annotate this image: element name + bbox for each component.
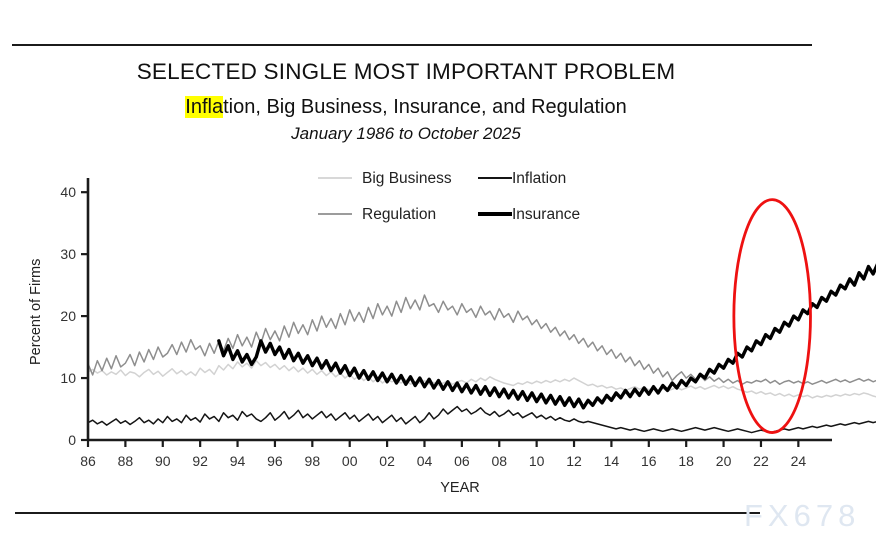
y-axis-tick-label: 30 (60, 246, 76, 262)
y-axis-label: Percent of Firms (28, 259, 44, 365)
plot-area: Big BusinessInflationRegulationInsurance… (0, 0, 876, 556)
x-axis-tick-label: 94 (230, 453, 246, 469)
x-axis-tick-label: 02 (379, 453, 395, 469)
chart-screenshot: SELECTED SINGLE MOST IMPORTANT PROBLEM I… (0, 0, 876, 556)
x-axis-tick-label: 04 (417, 453, 433, 469)
legend-label-regulation: Regulation (362, 206, 436, 223)
line-chart-svg: Big BusinessInflationRegulationInsurance… (0, 0, 876, 556)
x-axis-tick-label: 20 (716, 453, 732, 469)
chart-legend: Big BusinessInflationRegulationInsurance (318, 170, 580, 223)
x-axis-tick-label: 22 (753, 453, 769, 469)
series-line-inflation (88, 211, 876, 433)
y-axis-tick-label: 40 (60, 184, 76, 200)
legend-label-inflation: Inflation (512, 170, 566, 187)
bottom-divider-rule (15, 512, 760, 514)
x-axis-tick-label: 92 (192, 453, 208, 469)
series-group (88, 211, 876, 434)
x-axis-tick-label: 96 (267, 453, 283, 469)
axes-group: 0102030408688909294969800020406081012141… (60, 178, 832, 469)
x-axis-tick-label: 24 (791, 453, 807, 469)
x-axis-label: YEAR (440, 480, 480, 496)
y-axis-tick-label: 0 (68, 432, 76, 448)
watermark: FX678 (744, 498, 860, 534)
x-axis-tick-label: 86 (80, 453, 96, 469)
x-axis-tick-label: 06 (454, 453, 470, 469)
x-axis-tick-label: 10 (529, 453, 545, 469)
x-axis-tick-label: 08 (491, 453, 507, 469)
y-axis-tick-label: 10 (60, 370, 76, 386)
x-axis-tick-label: 12 (566, 453, 582, 469)
y-axis-tick-label: 20 (60, 308, 76, 324)
x-axis-tick-label: 90 (155, 453, 171, 469)
x-axis-tick-label: 88 (118, 453, 134, 469)
series-line-insurance (219, 260, 876, 411)
x-axis-tick-label: 16 (641, 453, 657, 469)
legend-label-insurance: Insurance (512, 206, 580, 223)
x-axis-tick-label: 14 (604, 453, 620, 469)
x-axis-tick-label: 00 (342, 453, 358, 469)
legend-label-big-business: Big Business (362, 170, 452, 187)
x-axis-tick-label: 18 (678, 453, 694, 469)
x-axis-tick-label: 98 (305, 453, 321, 469)
